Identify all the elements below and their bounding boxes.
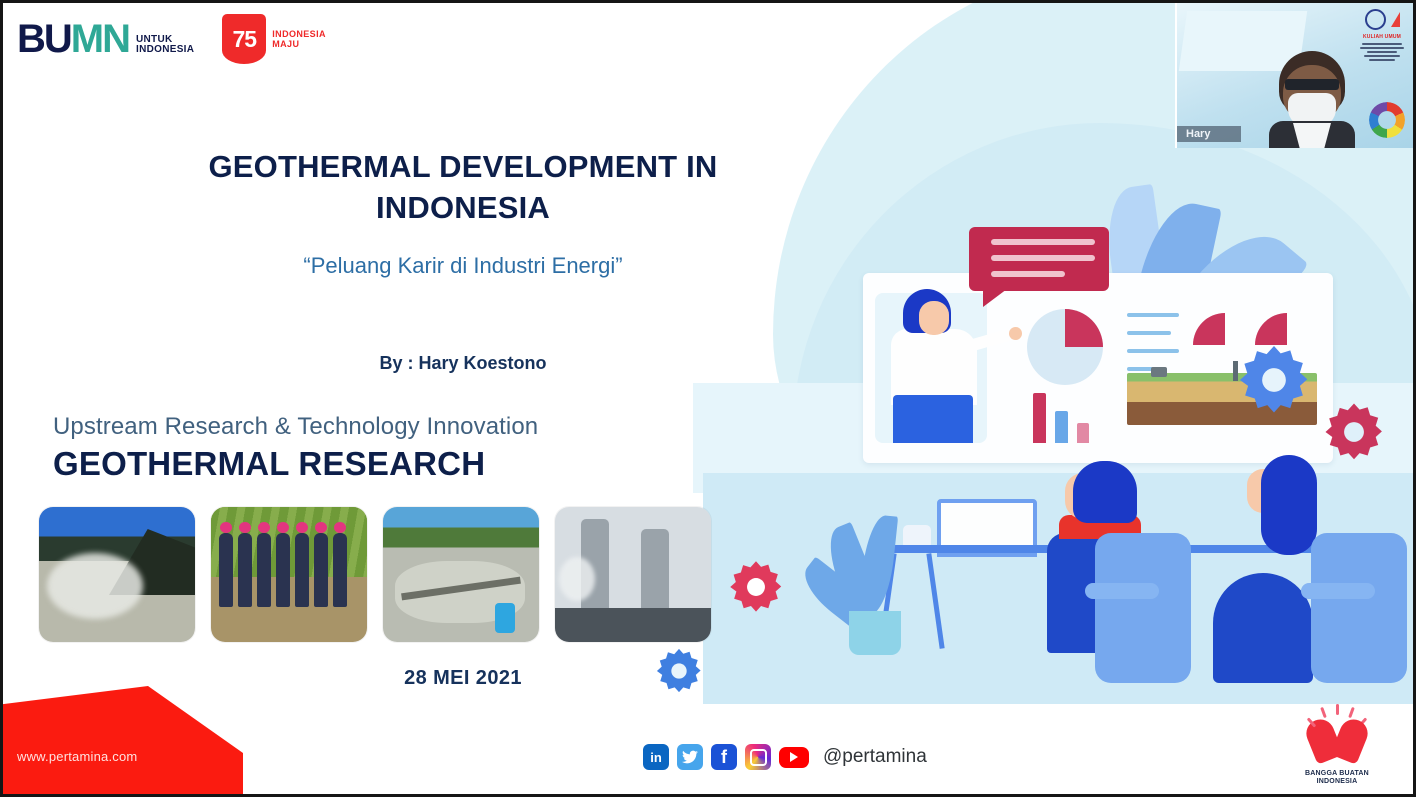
participant-glasses-icon bbox=[1285, 79, 1339, 90]
bar-chart-bar bbox=[1055, 411, 1068, 443]
quarter-chart-graphic bbox=[1193, 313, 1225, 345]
twitter-icon[interactable] bbox=[677, 744, 703, 770]
bangga-logo-text: BANGGA BUATAN INDONESIA bbox=[1291, 770, 1383, 786]
bumn-logo: BUMN UNTUK INDONESIA bbox=[17, 19, 194, 59]
participant-collar bbox=[1293, 123, 1331, 148]
maju-tagline-line1: INDONESIA bbox=[272, 29, 326, 39]
heart-ray bbox=[1336, 704, 1339, 715]
gear-red-icon bbox=[728, 559, 784, 615]
slide-byline: By : Hary Koestono bbox=[123, 353, 803, 374]
maju-shield-icon: 75 bbox=[222, 14, 266, 64]
photo-drilling-site bbox=[383, 507, 539, 642]
university-seal-icon bbox=[1365, 9, 1386, 30]
team-member bbox=[219, 533, 233, 607]
gear-blue-icon bbox=[655, 647, 703, 695]
participant-webcam-figure bbox=[1269, 51, 1355, 148]
bumn-tagline: UNTUK INDONESIA bbox=[136, 35, 194, 59]
plant-pot bbox=[849, 611, 901, 655]
heart-ray bbox=[1307, 717, 1317, 727]
indonesia-maju-logo: 75 INDONESIA MAJU bbox=[222, 14, 326, 64]
instagram-icon[interactable] bbox=[745, 744, 771, 770]
photo-strip bbox=[39, 507, 711, 642]
facebook-icon[interactable]: f bbox=[711, 744, 737, 770]
team-member bbox=[333, 533, 347, 607]
bar-chart-bar bbox=[1077, 423, 1089, 443]
webinar-illustration bbox=[841, 215, 1416, 715]
steam-plume bbox=[47, 553, 143, 619]
bubble-text-line bbox=[991, 239, 1095, 245]
video-overlay-title: KULIAH UMUM bbox=[1355, 34, 1409, 40]
bumn-wordmark-part1: BU bbox=[17, 17, 71, 61]
overlay-line bbox=[1369, 59, 1395, 61]
instagram-glyph bbox=[750, 749, 767, 766]
presenter-skirt bbox=[893, 395, 973, 443]
overlay-line bbox=[1362, 43, 1402, 45]
team-members bbox=[219, 533, 347, 607]
gear-crimson-large-icon bbox=[1323, 401, 1385, 463]
attendee-hair bbox=[1073, 461, 1137, 523]
bubble-text-line bbox=[991, 271, 1065, 277]
website-url: www.pertamina.com bbox=[17, 749, 137, 764]
video-overlay-detail-lines bbox=[1355, 43, 1409, 61]
youtube-play-glyph bbox=[790, 752, 798, 762]
social-handle: @pertamina bbox=[823, 746, 927, 768]
overlay-line bbox=[1367, 51, 1397, 53]
quarter-chart-graphic bbox=[1255, 313, 1287, 345]
maju-tagline: INDONESIA MAJU bbox=[272, 29, 326, 49]
video-overlay-logos: KULIAH UMUM bbox=[1355, 9, 1409, 63]
unit-title: GEOTHERMAL RESEARCH bbox=[53, 445, 485, 483]
bangga-text-line1: BANGGA BUATAN bbox=[1291, 770, 1383, 778]
team-member bbox=[238, 533, 252, 607]
attendee-hair bbox=[1261, 455, 1317, 555]
plant-base bbox=[555, 608, 711, 642]
chair-armrest bbox=[1085, 583, 1159, 599]
slide-subtitle: “Peluang Karir di Industri Energi” bbox=[123, 253, 803, 279]
wellhead-icon bbox=[1151, 367, 1167, 377]
bubble-text-line bbox=[991, 255, 1095, 261]
partner-logo-icon bbox=[1391, 12, 1400, 27]
heart-icon bbox=[1308, 713, 1366, 767]
bumn-wordmark: BUMN bbox=[17, 19, 129, 59]
linkedin-icon[interactable]: in bbox=[643, 744, 669, 770]
social-media-row: in f @pertamina bbox=[643, 744, 927, 770]
video-participant-tile[interactable]: KULIAH UMUM Hary bbox=[1175, 3, 1413, 148]
team-member bbox=[295, 533, 309, 607]
presenter-face bbox=[919, 301, 949, 335]
bangga-buatan-indonesia-logo: BANGGA BUATAN INDONESIA bbox=[1291, 713, 1383, 786]
photo-field-survey-team bbox=[211, 507, 367, 642]
content-text-line bbox=[1127, 349, 1179, 353]
photo-geothermal-power-plant bbox=[555, 507, 711, 642]
team-member bbox=[276, 533, 290, 607]
header-logo-row: BUMN UNTUK INDONESIA 75 INDONESIA MAJU bbox=[3, 3, 326, 75]
bar-chart-bar bbox=[1033, 393, 1046, 443]
slide-screenshot: BUMN UNTUK INDONESIA 75 INDONESIA MAJU K… bbox=[0, 0, 1416, 797]
bangga-text-line2: INDONESIA bbox=[1291, 778, 1383, 786]
overlay-line bbox=[1360, 47, 1404, 49]
chair-armrest bbox=[1301, 583, 1375, 599]
presenter-hand bbox=[1009, 327, 1022, 340]
content-text-line bbox=[1127, 313, 1179, 317]
slide-title: GEOTHERMAL DEVELOPMENT IN INDONESIA bbox=[123, 146, 803, 228]
site-drum bbox=[495, 603, 515, 633]
overlay-line bbox=[1364, 55, 1400, 57]
desk-leg bbox=[926, 553, 944, 649]
youtube-icon[interactable] bbox=[779, 747, 809, 768]
colorful-ring-logo-icon bbox=[1369, 102, 1405, 138]
team-member bbox=[314, 533, 328, 607]
gear-blue-large-icon bbox=[1237, 343, 1311, 417]
team-member bbox=[257, 533, 271, 607]
content-text-line bbox=[1127, 331, 1171, 335]
attendee-body bbox=[1213, 573, 1313, 683]
office-chair bbox=[1311, 533, 1407, 683]
speech-bubble-icon bbox=[969, 227, 1109, 291]
heart-ray bbox=[1358, 717, 1368, 727]
potted-plant-leaf bbox=[858, 514, 898, 617]
photo-geothermal-fumarole-crater bbox=[39, 507, 195, 642]
unit-subtitle: Upstream Research & Technology Innovatio… bbox=[53, 413, 538, 441]
bumn-tagline-line2: INDONESIA bbox=[136, 45, 194, 55]
video-overlay-logo-row bbox=[1355, 9, 1409, 30]
office-chair bbox=[1095, 533, 1191, 683]
plant-vapor bbox=[559, 557, 595, 601]
bumn-wordmark-part2: MN bbox=[71, 17, 129, 61]
participant-name-label: Hary bbox=[1177, 126, 1241, 142]
maju-tagline-line2: MAJU bbox=[272, 39, 326, 49]
